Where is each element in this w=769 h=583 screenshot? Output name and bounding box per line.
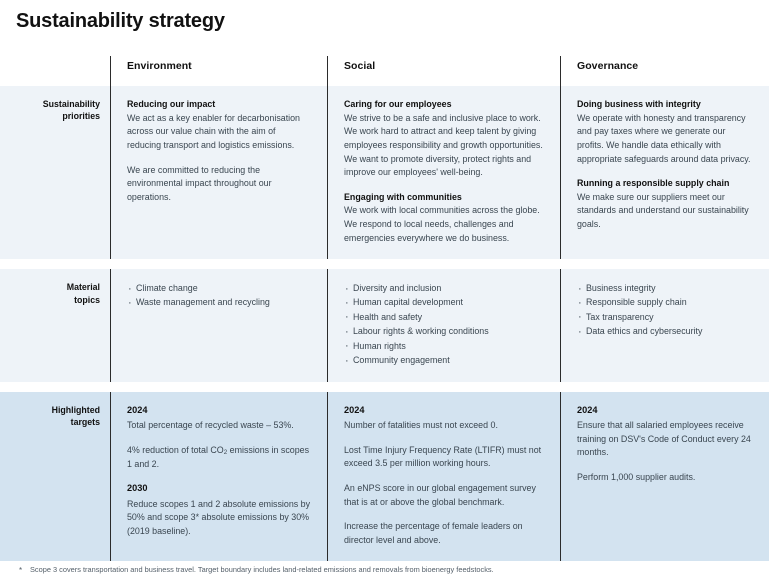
target-item: Number of fatalities must not exceed 0. <box>344 419 544 433</box>
row-gap <box>100 269 110 382</box>
list-item: Human capital development <box>344 295 544 309</box>
text-block: Reducing our impact We act as a key enab… <box>127 98 311 153</box>
column-title-social: Social <box>344 60 544 72</box>
list-item: Waste management and recycling <box>127 295 311 309</box>
column-title-governance: Governance <box>577 60 753 72</box>
target-item: Total percentage of recycled waste – 53%… <box>127 419 311 433</box>
column-title-environment: Environment <box>127 60 311 72</box>
list-item: Human rights <box>344 339 544 353</box>
target-item-co2-text: 4% reduction of total CO2 emissions in s… <box>127 445 309 469</box>
target-item: Perform 1,000 supplier audits. <box>577 471 753 485</box>
row-label-line-2: priorities <box>18 110 100 122</box>
target-item: Reduce scopes 1 and 2 absolute emissions… <box>127 498 311 539</box>
list-item: Tax transparency <box>577 310 753 324</box>
cell-priorities-governance: Doing business with integrity We operate… <box>560 86 769 259</box>
cell-targets-environment: 2024 Total percentage of recycled waste … <box>110 392 327 562</box>
cell-targets-social: 2024 Number of fatalities must not excee… <box>327 392 560 562</box>
topics-list-governance: Business integrity Responsible supply ch… <box>577 281 753 339</box>
block-body: We make sure our suppliers meet our stan… <box>577 191 753 232</box>
list-item: Responsible supply chain <box>577 295 753 309</box>
target-item: Increase the percentage of female leader… <box>344 520 544 547</box>
list-item: Health and safety <box>344 310 544 324</box>
target-group: Increase the percentage of female leader… <box>344 520 544 547</box>
page-title: Sustainability strategy <box>16 10 225 33</box>
row-label-line-2: targets <box>18 416 100 428</box>
row-label-sustainability-priorities: Sustainability priorities <box>0 86 100 259</box>
topics-list-social: Diversity and inclusion Human capital de… <box>344 281 544 368</box>
target-group: An eNPS score in our global engagement s… <box>344 482 544 509</box>
column-header-governance: Governance <box>560 56 769 86</box>
list-item: Labour rights & working conditions <box>344 324 544 338</box>
target-group: 2024 Ensure that all salaried employees … <box>577 404 753 460</box>
text-block: Caring for our employees We strive to be… <box>344 98 544 180</box>
table-row-material-topics: Material topics Climate change Waste man… <box>0 269 769 382</box>
target-group: Perform 1,000 supplier audits. <box>577 471 753 485</box>
target-year: 2024 <box>344 404 544 418</box>
table-row-highlighted-targets: Highlighted targets 2024 Total percentag… <box>0 392 769 562</box>
target-item: Lost Time Injury Frequency Rate (LTIFR) … <box>344 444 544 471</box>
block-body: We act as a key enabler for decarbonisat… <box>127 112 311 153</box>
list-item: Diversity and inclusion <box>344 281 544 295</box>
column-header-environment: Environment <box>110 56 327 86</box>
list-item: Community engagement <box>344 353 544 367</box>
row-label-line-1: Highlighted <box>18 404 100 416</box>
block-body: We are committed to reducing the environ… <box>127 164 311 205</box>
target-group: Lost Time Injury Frequency Rate (LTIFR) … <box>344 444 544 471</box>
block-heading: Reducing our impact <box>127 98 311 111</box>
topics-list-environment: Climate change Waste management and recy… <box>127 281 311 310</box>
list-item: Business integrity <box>577 281 753 295</box>
text-block: Running a responsible supply chain We ma… <box>577 177 753 232</box>
footnote-marker: * <box>0 565 30 576</box>
sustainability-strategy-table: Environment Social Governance Sustainabi… <box>0 56 769 571</box>
table-header-row: Environment Social Governance <box>0 56 769 86</box>
header-gap <box>100 56 110 86</box>
block-heading: Caring for our employees <box>344 98 544 111</box>
footnote: * Scope 3 covers transportation and busi… <box>0 565 769 576</box>
target-group: 2024 Number of fatalities must not excee… <box>344 404 544 433</box>
target-year: 2030 <box>127 482 311 496</box>
block-heading: Doing business with integrity <box>577 98 753 111</box>
table-row-sustainability-priorities: Sustainability priorities Reducing our i… <box>0 86 769 259</box>
cell-material-topics-environment: Climate change Waste management and recy… <box>110 269 327 382</box>
list-item: Data ethics and cybersecurity <box>577 324 753 338</box>
target-year: 2024 <box>577 404 753 418</box>
cell-targets-governance: 2024 Ensure that all salaried employees … <box>560 392 769 562</box>
cell-priorities-environment: Reducing our impact We act as a key enab… <box>110 86 327 259</box>
header-label-spacer <box>0 56 100 86</box>
row-label-line-1: Sustainability <box>18 98 100 110</box>
column-header-social: Social <box>327 56 560 86</box>
block-body: We work with local communities across th… <box>344 204 544 245</box>
list-item: Climate change <box>127 281 311 295</box>
footnote-text: Scope 3 covers transportation and busine… <box>30 565 769 575</box>
target-item-co2: 4% reduction of total CO2 emissions in s… <box>127 444 311 471</box>
target-item: An eNPS score in our global engagement s… <box>344 482 544 509</box>
target-group: 2030 Reduce scopes 1 and 2 absolute emis… <box>127 482 311 538</box>
row-gap <box>100 392 110 562</box>
text-block: Engaging with communities We work with l… <box>344 191 544 246</box>
block-body: We operate with honesty and transparency… <box>577 112 753 166</box>
target-group: 4% reduction of total CO2 emissions in s… <box>127 444 311 471</box>
block-heading: Engaging with communities <box>344 191 544 204</box>
text-block: We are committed to reducing the environ… <box>127 164 311 205</box>
cell-material-topics-social: Diversity and inclusion Human capital de… <box>327 269 560 382</box>
cell-material-topics-governance: Business integrity Responsible supply ch… <box>560 269 769 382</box>
block-heading: Running a responsible supply chain <box>577 177 753 190</box>
row-label-material-topics: Material topics <box>0 269 100 382</box>
target-group: 2024 Total percentage of recycled waste … <box>127 404 311 433</box>
block-body: We strive to be a safe and inclusive pla… <box>344 112 544 180</box>
row-label-line-2: topics <box>18 294 100 306</box>
row-gap <box>100 86 110 259</box>
row-label-line-1: Material <box>18 281 100 293</box>
cell-priorities-social: Caring for our employees We strive to be… <box>327 86 560 259</box>
target-year: 2024 <box>127 404 311 418</box>
target-item: Ensure that all salaried employees recei… <box>577 419 753 460</box>
row-label-highlighted-targets: Highlighted targets <box>0 392 100 562</box>
text-block: Doing business with integrity We operate… <box>577 98 753 166</box>
